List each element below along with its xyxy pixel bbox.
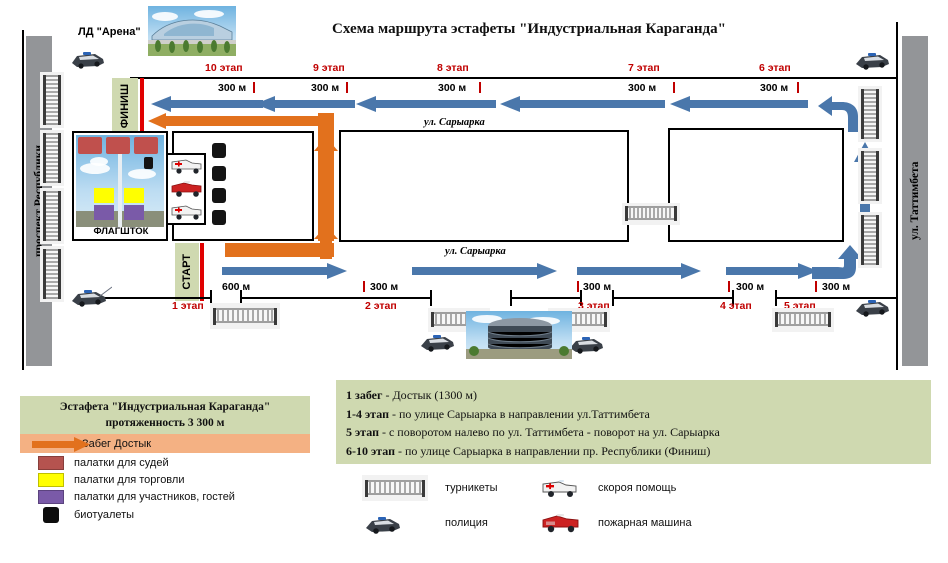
distance-label-7: 300 м (628, 82, 656, 94)
notes-panel: 1 забег - Достык (1300 м) 1-4 этап - по … (336, 380, 931, 464)
street-label-saryarka-bottom: ул. Сарыарка (445, 246, 506, 257)
legend-item-label: палатки для участников, гостей (74, 491, 235, 503)
note-row-2: 1-4 этап - по улице Сарыарка в направлен… (346, 405, 923, 424)
police-car-icon (68, 285, 112, 309)
key-label-ambulance: скороя помощь (598, 482, 676, 494)
key-label-fire-truck: пожарная машина (598, 517, 692, 529)
ambulance-icon (170, 201, 204, 221)
route-arrow-west-4 (500, 96, 665, 117)
route-arrow-west-3 (356, 96, 496, 117)
tent-guests-swatch (38, 490, 64, 504)
flagpole-label: ФЛАГШТОК (80, 226, 162, 237)
stage-tick-9 (346, 82, 348, 93)
stadium-photo (466, 311, 572, 359)
distance-label-5: 300 м (822, 281, 850, 293)
key-turnstile-icon (362, 475, 428, 501)
distance-label-9: 300 м (311, 82, 339, 94)
bio-toilet-swatch (43, 507, 59, 523)
bio-toilet-marker (212, 143, 226, 158)
bio-toilet-marker (212, 166, 226, 181)
tent-judges-swatch (38, 456, 64, 470)
legend-heading-line1: Эстафета "Индустриальная Караганда" (20, 399, 310, 415)
bottom-road-line-seg-4 (612, 297, 732, 299)
ambulance-icon (170, 155, 204, 175)
stage-label-10: 10 этап (205, 62, 243, 74)
fire-truck-icon (170, 178, 204, 198)
stage-label-7: 7 этап (628, 62, 660, 74)
turnstile-icon (40, 188, 64, 244)
bottom-road-kerb-8 (775, 290, 777, 306)
turnstile-icon (40, 246, 64, 302)
key-police-car-icon (362, 512, 406, 536)
turnstile-icon (772, 308, 834, 332)
note-bold: 1 забег (346, 388, 382, 402)
stage-tick-2 (363, 281, 365, 292)
note-rest: - с поворотом налево по ул. Таттимбета -… (379, 425, 720, 439)
distance-label-4: 300 м (736, 281, 764, 293)
stage-tick-6 (797, 82, 799, 93)
stage-tick-5 (815, 281, 817, 292)
key-fire-truck-icon (540, 511, 582, 535)
note-row-3: 5 этап - с поворотом налево по ул. Татти… (346, 423, 923, 442)
note-row-4: 6-10 этап - по улице Сарыарка в направле… (346, 442, 923, 461)
bottom-road-line-seg-2 (240, 297, 430, 299)
start-label: СТАРТ (181, 254, 193, 290)
arena-label: ЛД "Арена" (78, 26, 141, 38)
distance-label-2: 300 м (370, 281, 398, 293)
top-road-line (130, 77, 896, 79)
note-bold: 5 этап (346, 425, 379, 439)
finish-line-bar (140, 78, 144, 134)
legend-heading-line2: протяженность 3 300 м (20, 415, 310, 431)
bottom-road-kerb-4 (510, 290, 512, 306)
legend-item-label: биотуалеты (74, 509, 134, 521)
bio-toilet-marker (144, 157, 153, 169)
stage-tick-8 (479, 82, 481, 93)
flagpole-photo (76, 135, 164, 227)
legend-item-guests: палатки для участников, гостей (20, 490, 320, 504)
note-rest: - по улице Сарыарка в направлении пр. Ре… (395, 444, 710, 458)
stage-label-8: 8 этап (437, 62, 469, 74)
legend-item-label: палатки для торговли (74, 474, 184, 486)
bottom-road-kerb-6 (612, 290, 614, 306)
route-arrow-west-5 (670, 96, 808, 117)
route-arrow-east-2 (412, 263, 557, 284)
key-ambulance-icon (540, 476, 580, 500)
city-block-middle (339, 130, 629, 242)
police-car-icon (566, 332, 608, 356)
legend-heading: Эстафета "Индустриальная Караганда" прот… (20, 396, 310, 434)
arena-photo (148, 6, 236, 56)
turnstile-icon (40, 130, 64, 186)
bio-toilet-marker (212, 188, 226, 203)
turnstile-icon (40, 72, 64, 128)
finish-band: ФИНИШ (112, 78, 138, 134)
city-block-right (668, 128, 844, 242)
stage-label-4: 4 этап (720, 300, 752, 312)
turnstile-icon (622, 203, 680, 225)
right-avenue-label: ул. Таттимбета (902, 36, 928, 366)
right-avenue-label-text: ул. Таттимбета (902, 36, 928, 366)
legend-item-judges: палатки для судей (20, 456, 320, 470)
tent-trade-swatch (38, 473, 64, 487)
bottom-road-line-seg-3 (510, 297, 580, 299)
right-avenue-edge-line (896, 22, 898, 370)
police-car-icon (852, 48, 894, 72)
bio-toilet-marker (212, 210, 226, 225)
note-rest: - по улице Сарыарка в направлении ул.Тат… (389, 407, 650, 421)
orange-route-arrow-up-upper (312, 135, 340, 200)
distance-label-8: 300 м (438, 82, 466, 94)
stage-tick-10 (253, 82, 255, 93)
orange-route-arrow-up-lower (312, 225, 340, 264)
key-label-police: полиция (445, 517, 488, 529)
stage-tick-3 (577, 281, 579, 292)
legend-run-arrow-icon (32, 436, 90, 458)
start-line-bar (200, 243, 204, 301)
page-title: Схема маршрута эстафеты "Индустриальная … (332, 21, 726, 38)
note-row-1: 1 забег - Достык (1300 м) (346, 386, 923, 405)
police-car-icon (852, 295, 894, 319)
turnstile-icon (210, 303, 280, 329)
legend-run-label: Забег Достык (82, 438, 151, 450)
bottom-road-line-seg-1 (95, 297, 210, 299)
street-label-saryarka-top: ул. Сарыарка (424, 117, 485, 128)
turnstile-icon (858, 86, 882, 142)
distance-label-3: 300 м (583, 281, 611, 293)
stage-tick-4 (728, 281, 730, 292)
stage-label-9: 9 этап (313, 62, 345, 74)
legend-item-label: палатки для судей (74, 457, 169, 469)
turnstile-icon (858, 212, 882, 268)
distance-label-10: 300 м (218, 82, 246, 94)
police-car-icon (417, 330, 459, 354)
left-avenue-edge-line (22, 30, 24, 370)
note-bold: 1-4 этап (346, 407, 389, 421)
distance-label-6: 300 м (760, 82, 788, 94)
stage-tick-7 (673, 82, 675, 93)
stage-label-6: 6 этап (759, 62, 791, 74)
stage-label-2: 2 этап (365, 300, 397, 312)
key-label-turnstile: турникеты (445, 482, 498, 494)
bottom-road-kerb-3 (430, 290, 432, 306)
turnstile-icon (858, 148, 882, 204)
legend-item-toilets: биотуалеты (20, 507, 320, 523)
distance-label-1: 600 м (222, 281, 250, 293)
note-rest: - Достык (1300 м) (382, 388, 477, 402)
note-bold: 6-10 этап (346, 444, 395, 458)
legend-panel: Эстафета "Индустриальная Караганда" прот… (20, 396, 320, 546)
finish-label: ФИНИШ (119, 84, 131, 128)
police-car-icon (68, 48, 108, 70)
legend-item-trade: палатки для торговли (20, 473, 320, 487)
start-band: СТАРТ (175, 243, 199, 301)
stage-label-1: 1 этап (172, 300, 204, 312)
